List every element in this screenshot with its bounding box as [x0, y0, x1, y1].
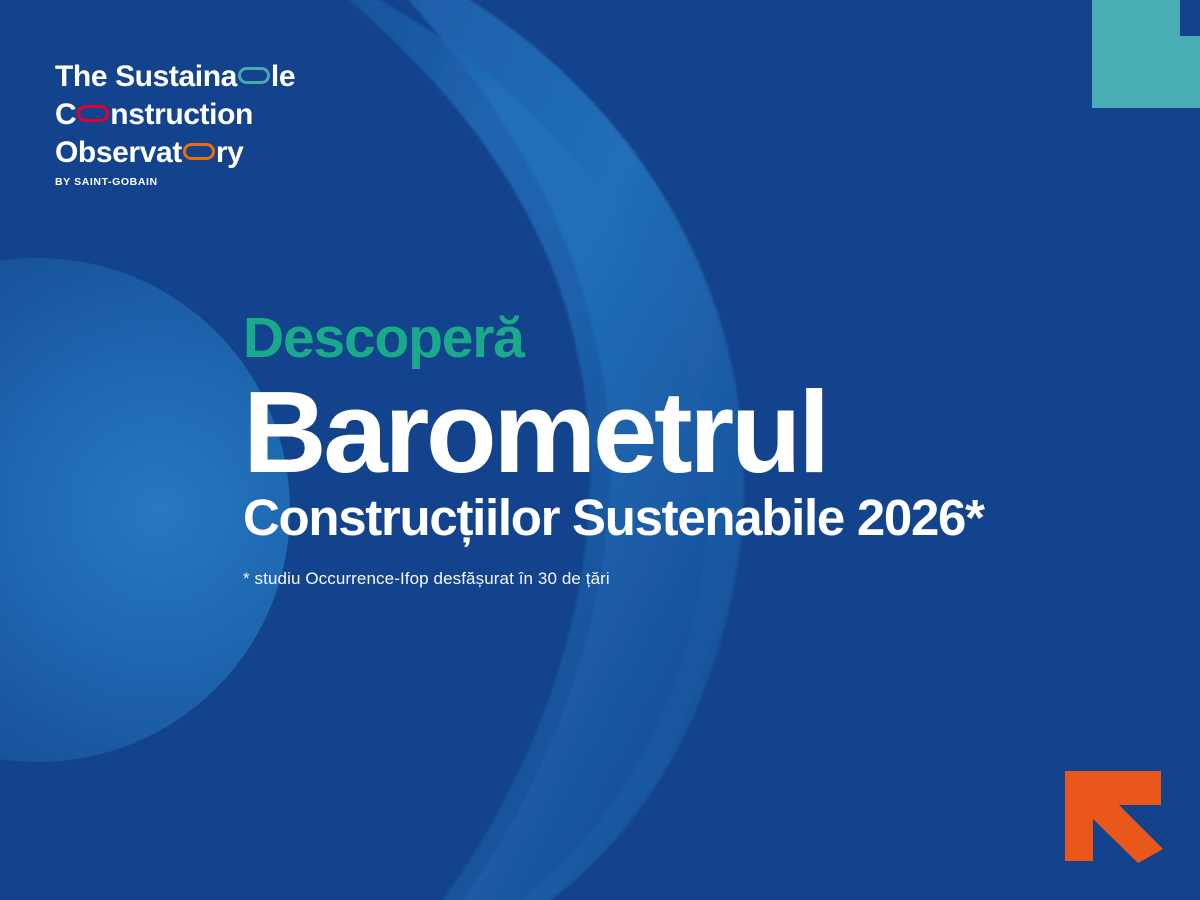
page-title: Barometrul — [243, 373, 1143, 491]
logo[interactable]: The Sustainale Cnstruction Observatry BY… — [55, 58, 415, 188]
headline-block: Descoperă Barometrul Construcțiilor Sust… — [243, 305, 1143, 589]
logo-line3-pre: Observat — [55, 136, 182, 169]
logo-line-1: The Sustainale — [55, 58, 415, 96]
poster-canvas: The Sustainale Cnstruction Observatry BY… — [0, 0, 1200, 900]
logo-line2-pre: C — [55, 98, 76, 131]
logo-line-3: Observatry — [55, 134, 415, 172]
page-subtitle: Construcțiilor Sustenabile 2026* — [243, 489, 1143, 547]
logo-line1-post: le — [271, 60, 295, 93]
logo-line3-post: ry — [216, 136, 244, 169]
arrow-up-left-icon — [1063, 769, 1163, 863]
logo-pill-teal-icon — [238, 67, 270, 84]
eyebrow-text: Descoperă — [243, 305, 1143, 371]
logo-line-2: Cnstruction — [55, 96, 415, 134]
logo-byline: BY SAINT-GOBAIN — [55, 176, 415, 188]
logo-line2-post: nstruction — [110, 98, 253, 131]
footnote-text: * studiu Occurrence-Ifop desfășurat în 3… — [243, 569, 1143, 589]
logo-line1-pre: The Sustaina — [55, 60, 237, 93]
logo-pill-red-icon — [77, 105, 109, 122]
logo-pill-orange-icon — [183, 143, 215, 160]
teal-corner-block — [1076, 0, 1200, 108]
